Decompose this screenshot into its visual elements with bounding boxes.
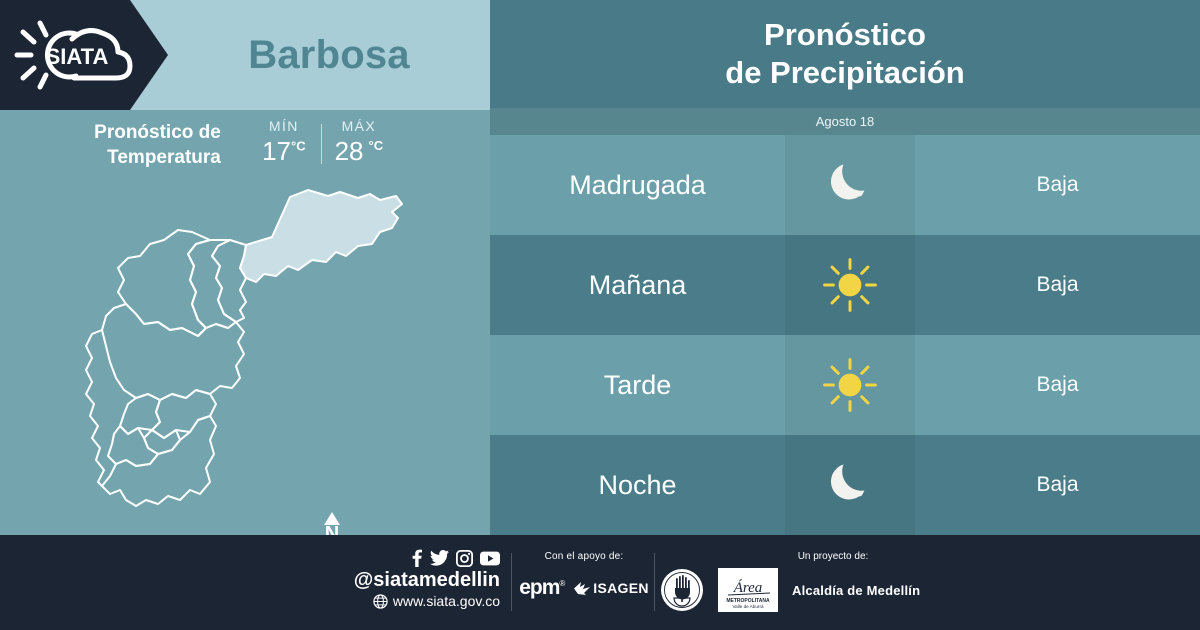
website-row[interactable]: www.siata.gov.co: [330, 593, 500, 609]
forecast-date: Agosto 18: [816, 114, 875, 129]
forecast-period: Mañana: [490, 235, 785, 335]
temperature-min: MÍN 17°C: [247, 118, 321, 167]
forecast-row: Mañana Baja: [490, 235, 1200, 335]
temperature-min-label: MÍN: [269, 118, 299, 134]
left-panel: SIATA Barbosa Pronóstico de Temperatura …: [0, 0, 490, 535]
siata-logo-text: SIATA: [46, 44, 109, 69]
forecast-period: Tarde: [490, 335, 785, 435]
sun-icon: [822, 257, 878, 313]
forecast-icon-cell: [785, 235, 915, 335]
degree-unit-min: °C: [291, 138, 306, 153]
social-block: @siatamedellin www.siata.gov.co: [330, 549, 500, 609]
map-region-sabaneta[interactable]: [144, 430, 180, 454]
social-handle[interactable]: @siatamedellin: [330, 569, 500, 592]
city-header-strip: SIATA Barbosa: [0, 0, 490, 110]
temperature-min-value: 17°C: [262, 136, 306, 167]
alcaldia-label: Alcaldía de Medellín: [792, 583, 920, 598]
page-title: Barbosa: [168, 0, 490, 110]
forecast-row: Madrugada Baja: [490, 135, 1200, 235]
temperature-max: MÁX 28°C: [322, 118, 396, 167]
forecast-rows: Madrugada BajaMañana BajaTarde: [490, 135, 1200, 535]
map-svg: [40, 182, 460, 530]
siata-logo-icon: SIATA: [14, 18, 140, 92]
siata-logo-banner: SIATA: [0, 0, 168, 110]
map-region-boundary-west: [86, 330, 104, 486]
temperature-title: Pronóstico de Temperatura: [94, 118, 221, 170]
youtube-icon[interactable]: [480, 551, 500, 566]
twitter-icon[interactable]: [430, 550, 449, 566]
project-block: Un proyecto de:: [660, 551, 960, 612]
moon-icon: [822, 457, 878, 513]
area-metropolitana-logo: Área METROPOLITANA Valle de Aburrá: [718, 568, 778, 612]
social-icons: [330, 549, 500, 567]
facebook-icon[interactable]: [411, 549, 423, 567]
infographic-root: SIATA Barbosa Pronóstico de Temperatura …: [0, 0, 1200, 630]
isagen-logo: ISAGEN: [574, 580, 648, 596]
degree-unit-max: °C: [369, 138, 384, 153]
website-url[interactable]: www.siata.gov.co: [393, 593, 500, 609]
temperature-divider: [321, 124, 322, 164]
isagen-mark-icon: [574, 582, 590, 595]
sun-icon: [822, 357, 878, 413]
support-logos: epm® ISAGEN: [516, 576, 652, 600]
forecast-level: Baja: [915, 435, 1200, 535]
instagram-icon[interactable]: [456, 550, 473, 567]
temperature-max-value: 28°C: [335, 136, 384, 167]
udea-seal-icon: [660, 568, 704, 612]
footer: @siatamedellin www.siata.gov.co Con el a…: [0, 535, 1200, 630]
footer-divider-1: [511, 553, 512, 611]
isagen-label: ISAGEN: [593, 580, 648, 596]
map-region-bello[interactable]: [118, 230, 210, 336]
forecast-level: Baja: [915, 335, 1200, 435]
precipitation-title-line1: Pronóstico: [764, 16, 926, 54]
precipitation-date-bar: Agosto 18: [490, 108, 1200, 135]
globe-icon: [373, 594, 388, 609]
temperature-forecast: Pronóstico de Temperatura MÍN 17°C MÁX 2…: [0, 118, 490, 182]
temperature-max-label: MÁX: [342, 118, 377, 134]
area-sub2: Valle de Aburrá: [732, 604, 764, 609]
forecast-period: Madrugada: [490, 135, 785, 235]
temperature-values: MÍN 17°C MÁX 28°C: [247, 118, 396, 167]
footer-divider-2: [654, 553, 655, 611]
forecast-row: Noche Baja: [490, 435, 1200, 535]
moon-icon: [822, 157, 878, 213]
area-metropolitana-mark: Área METROPOLITANA Valle de Aburrá: [718, 568, 778, 612]
temperature-title-line2: Temperatura: [94, 145, 221, 170]
temperature-title-line1: Pronóstico de: [94, 120, 221, 145]
precipitation-header: Pronóstico de Precipitación: [490, 0, 1200, 108]
forecast-row: Tarde Baja: [490, 335, 1200, 435]
map-region-envigado[interactable]: [152, 390, 216, 438]
map-region-medellin[interactable]: [102, 304, 244, 400]
precipitation-title-line2: de Precipitación: [725, 54, 964, 92]
forecast-icon-cell: [785, 335, 915, 435]
project-caption: Un proyecto de:: [728, 551, 938, 562]
epm-logo: epm®: [519, 576, 564, 600]
forecast-level: Baja: [915, 135, 1200, 235]
map-region-caldas[interactable]: [102, 416, 216, 506]
forecast-icon-cell: [785, 135, 915, 235]
forecast-period: Noche: [490, 435, 785, 535]
precipitation-panel: Pronóstico de Precipitación Agosto 18 Ma…: [490, 0, 1200, 535]
project-logos: Área METROPOLITANA Valle de Aburrá Alcal…: [660, 568, 960, 612]
map-region-barbosa[interactable]: [240, 190, 402, 282]
forecast-level: Baja: [915, 235, 1200, 335]
aburra-valley-map: N: [40, 182, 460, 530]
support-caption: Con el apoyo de:: [516, 551, 652, 562]
support-block: Con el apoyo de: epm® ISAGEN: [516, 551, 652, 600]
forecast-icon-cell: [785, 435, 915, 535]
